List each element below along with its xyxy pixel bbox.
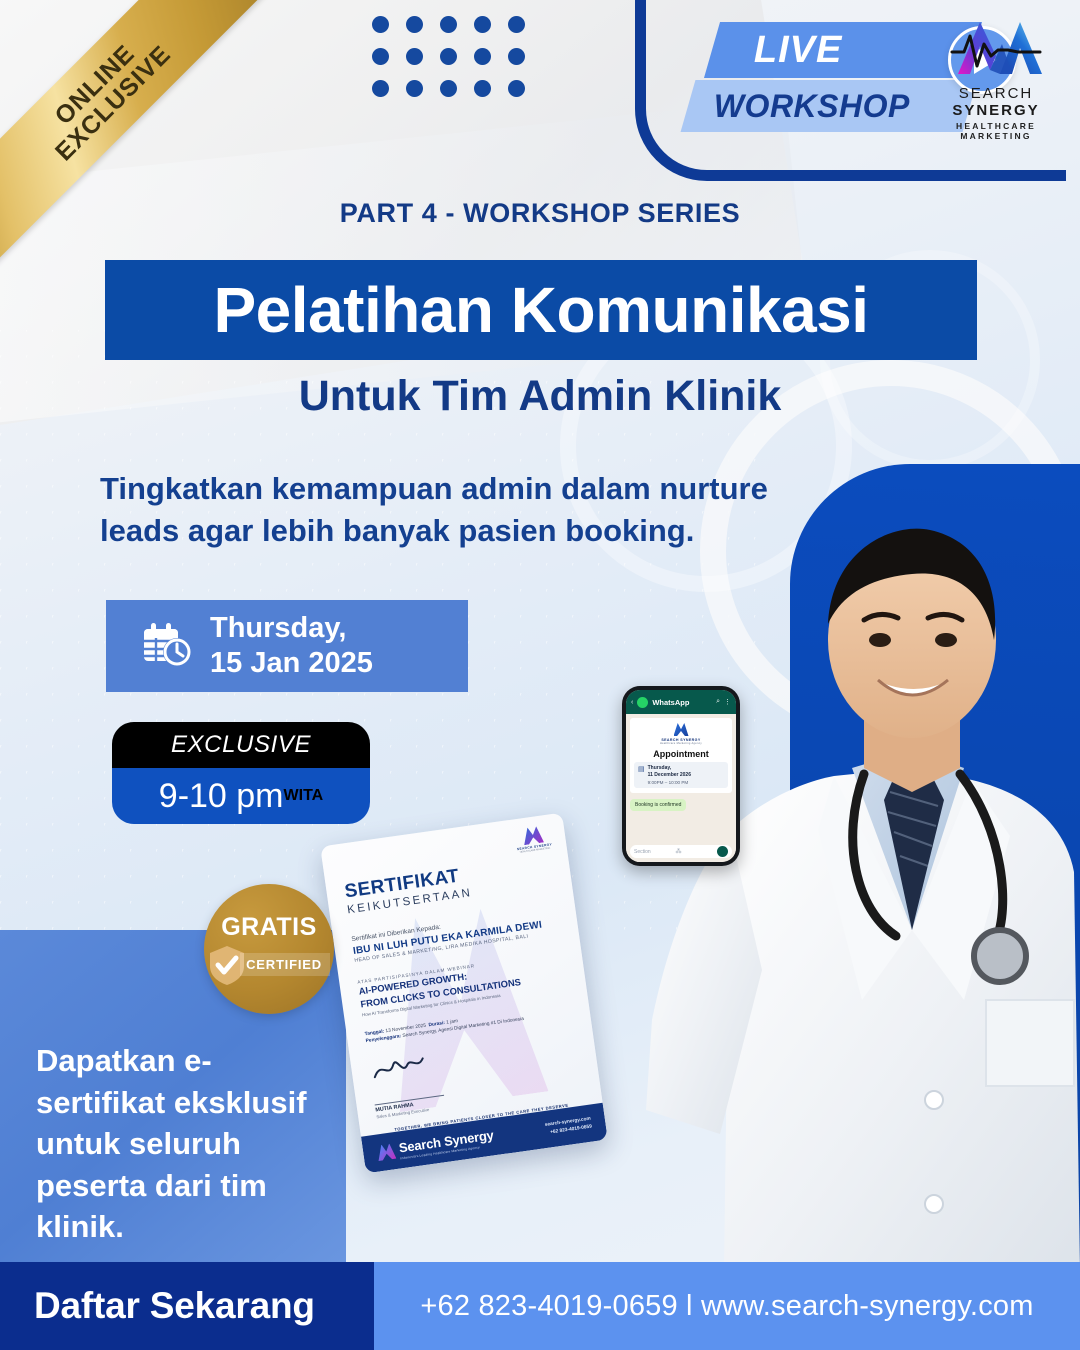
appointment-day: Thursday,: [648, 765, 691, 772]
paperclip-icon[interactable]: ⁂: [676, 848, 715, 855]
brand-tagline: HEALTHCARE MARKETING: [922, 121, 1070, 141]
page-subtitle: Untuk Tim Admin Klinik: [0, 372, 1080, 421]
appointment-slot: ▤ Thursday, 11 December 2026 9:00PM – 10…: [634, 762, 728, 788]
clinic-brand-sub: Healthcare Marketing Agency: [634, 742, 728, 745]
timezone-label: WITA: [284, 787, 324, 805]
certificate-logo-mark-icon: [522, 826, 544, 846]
search-icon[interactable]: ⌕: [716, 698, 720, 706]
brand-logo: SEARCH SYNERGY HEALTHCARE MARKETING: [922, 16, 1070, 141]
date-badge-day: Thursday,: [210, 611, 373, 646]
register-cta[interactable]: Daftar Sekarang: [0, 1262, 374, 1350]
gratis-seal: GRATIS CERTIFIED: [204, 884, 334, 1014]
time-badge: EXCLUSIVE 9-10 pm WITA: [112, 722, 370, 824]
date-badge: Thursday, 15 Jan 2025: [106, 600, 468, 692]
doctor-photo: [612, 500, 1080, 1270]
brand-name-light: SEARCH: [959, 85, 1034, 102]
signature-icon: [368, 1050, 429, 1084]
gratis-label: GRATIS: [221, 913, 317, 942]
message-placeholder: Section: [634, 849, 673, 855]
appointment-time: 9:00PM – 10:00 PM: [648, 780, 691, 785]
phone-screen: ‹ WhatsApp ⌕ ⋮ SEARCH SYNERGY Healthcare…: [626, 690, 736, 862]
whatsapp-logo-icon: [637, 697, 648, 708]
date-badge-text: Thursday, 15 Jan 2025: [210, 611, 373, 682]
date-badge-date: 15 Jan 2025: [210, 646, 373, 681]
phone-mockup: ‹ WhatsApp ⌕ ⋮ SEARCH SYNERGY Healthcare…: [622, 686, 740, 866]
time-value-bar: 9-10 pm WITA: [112, 768, 370, 824]
certificate-logo: SEARCH SYNERGY HEALTHCARE MARKETING: [514, 824, 553, 854]
time-value: 9-10 pm: [159, 777, 284, 816]
calendar-icon: ▤: [638, 765, 645, 773]
workshop-label: WORKSHOP: [688, 88, 910, 125]
certificate-body: SEARCH SYNERGY HEALTHCARE MARKETING SERT…: [320, 813, 602, 1137]
online-exclusive-ribbon: ONLINE EXCLUSIVE: [0, 0, 300, 300]
appointment-date: 11 December 2026: [648, 772, 691, 779]
certificate-promo-text: Dapatkan e-sertifikat eksklusif untuk se…: [36, 1040, 336, 1248]
lede-paragraph: Tingkatkan kemampuan admin dalam nurture…: [100, 468, 780, 552]
booking-confirmation-bubble: Booking is confirmed: [630, 799, 686, 811]
exclusive-label: EXCLUSIVE: [171, 731, 311, 759]
appointment-title: Appointment: [634, 749, 728, 759]
live-workshop-header: LIVE WORKSHOP: [660, 0, 1080, 176]
send-icon[interactable]: [717, 846, 728, 857]
exclusive-label-bar: EXCLUSIVE: [112, 722, 370, 768]
contact-info-text: +62 823-4019-0659 l www.search-synergy.c…: [420, 1290, 1033, 1323]
brand-name: SEARCH SYNERGY: [922, 85, 1070, 119]
register-cta-label: Daftar Sekarang: [34, 1285, 315, 1327]
message-input[interactable]: Section ⁂: [630, 845, 732, 858]
page-title-text: Pelatihan Komunikasi: [213, 273, 868, 347]
back-arrow-icon[interactable]: ‹: [631, 699, 633, 706]
calendar-clock-icon: [140, 621, 194, 671]
certified-label: CERTIFIED: [240, 953, 330, 976]
footer-bar: Daftar Sekarang +62 823-4019-0659 l www.…: [0, 1262, 1080, 1350]
whatsapp-app-name: WhatsApp: [652, 698, 712, 707]
brand-name-bold: SYNERGY: [952, 102, 1039, 119]
clinic-logo-icon: [674, 723, 689, 736]
poster-canvas: ONLINE EXCLUSIVE LIVE WORKSHOP: [0, 0, 1080, 1350]
appointment-card: SEARCH SYNERGY Healthcare Marketing Agen…: [630, 718, 732, 793]
contact-info[interactable]: +62 823-4019-0659 l www.search-synergy.c…: [374, 1262, 1080, 1350]
kebab-menu-icon[interactable]: ⋮: [724, 698, 731, 706]
whatsapp-header: ‹ WhatsApp ⌕ ⋮: [626, 690, 736, 714]
whatsapp-chat-body: SEARCH SYNERGY Healthcare Marketing Agen…: [626, 714, 736, 862]
live-label: LIVE: [712, 29, 842, 72]
dot-grid-decoration: [372, 16, 542, 112]
certificate-footer-logo-icon: [376, 1143, 396, 1161]
search-synergy-logo-mark: [946, 16, 1046, 78]
certificate-preview: SEARCH SYNERGY HEALTHCARE MARKETING SERT…: [320, 813, 608, 1174]
